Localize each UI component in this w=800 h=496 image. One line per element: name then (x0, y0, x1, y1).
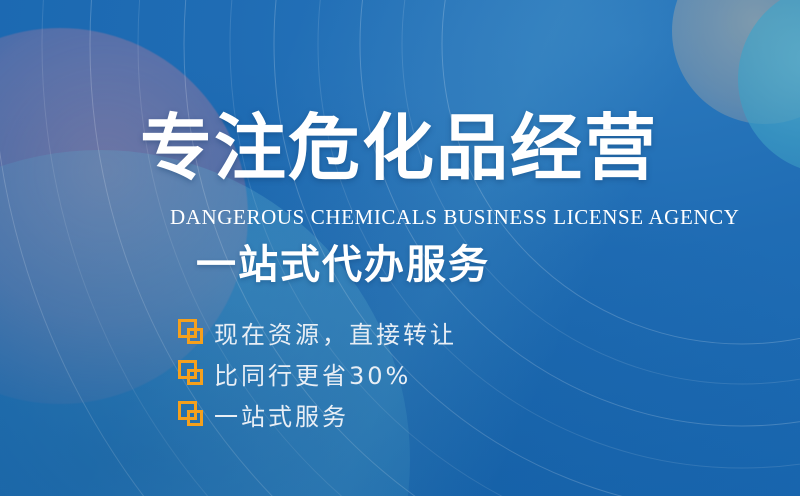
overlapping-squares-icon (178, 360, 204, 386)
list-item: 比同行更省30% (178, 353, 457, 393)
list-item: 现在资源，直接转让 (178, 312, 457, 352)
promo-banner: 专注危化品经营 DANGEROUS CHEMICALS BUSINESS LIC… (0, 0, 800, 496)
list-item-label: 比同行更省30% (214, 356, 411, 391)
feature-list: 现在资源，直接转让 比同行更省30% 一站式服务 (178, 312, 457, 435)
subtitle-chinese: 一站式代办服务 (196, 243, 490, 288)
overlapping-squares-icon (178, 401, 204, 427)
subtitle-english: DANGEROUS CHEMICALS BUSINESS LICENSE AGE… (170, 205, 740, 230)
headline: 专注危化品经营 (140, 112, 658, 184)
list-item-label: 一站式服务 (214, 397, 349, 432)
overlapping-squares-icon (178, 319, 204, 345)
list-item-label: 现在资源，直接转让 (214, 315, 457, 350)
banner-content: 专注危化品经营 DANGEROUS CHEMICALS BUSINESS LIC… (0, 0, 800, 496)
list-item: 一站式服务 (178, 394, 457, 434)
